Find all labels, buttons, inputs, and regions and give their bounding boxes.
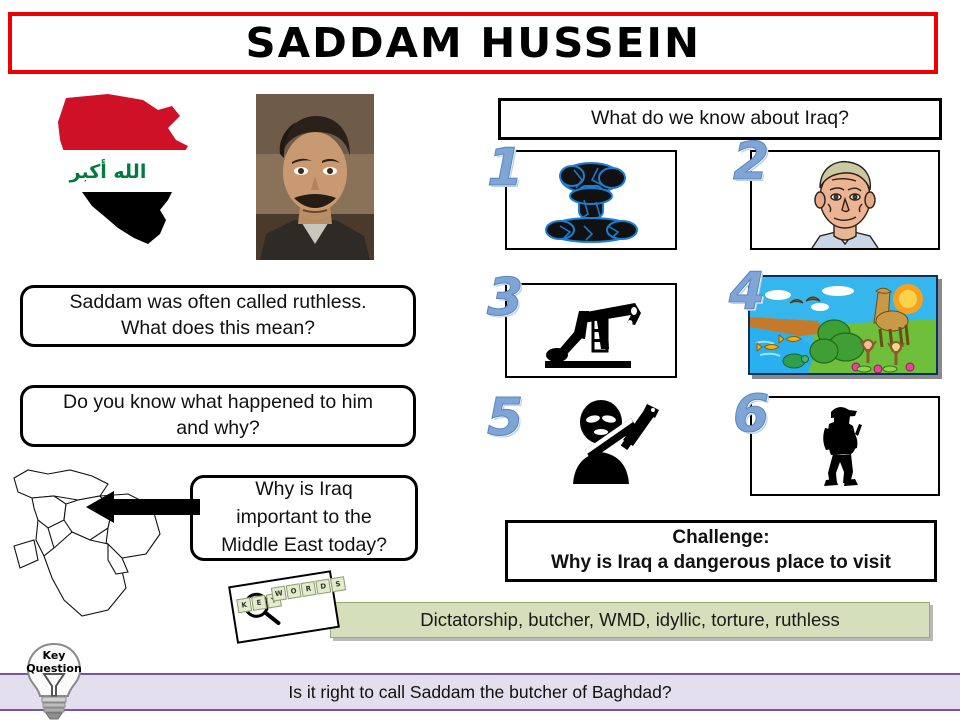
mushroom-cloud-icon [507, 152, 675, 248]
tile-letter: S [330, 576, 346, 592]
challenge-box: Challenge: Why is Iraq a dangerous place… [505, 520, 937, 582]
tile-letter: O [286, 583, 302, 599]
cell-4-idyllic-scene[interactable] [748, 275, 938, 375]
cell-number-2: 2 [733, 136, 769, 188]
arrow-to-iraq [80, 487, 200, 527]
idyllic-paradise-scene [750, 277, 936, 373]
cell-2-george-w-bush[interactable] [750, 150, 940, 250]
cell-number-5: 5 [487, 392, 523, 444]
oil-pumpjack-icon [507, 285, 675, 376]
arabic-takbir-text: الله أكبر [69, 159, 147, 183]
keyword-tiles-words: W O R D S [271, 576, 346, 601]
slide-canvas: SADDAM HUSSEIN الله أكبر [0, 0, 960, 720]
cell-number-1: 1 [487, 142, 523, 194]
keywords-card: K E Y W O R D S [228, 570, 340, 644]
page-title: SADDAM HUSSEIN [245, 19, 700, 67]
question-box-happened[interactable]: Do you know what happened to him and why… [20, 385, 416, 447]
tile-letter: E [251, 595, 267, 611]
cell-number-4: 4 [729, 266, 765, 318]
cell-3-oil-pumpjack[interactable] [505, 283, 677, 378]
key-question-text: Is it right to call Saddam the butcher o… [288, 682, 671, 703]
cell-1-mushroom-cloud[interactable] [505, 150, 677, 250]
cell-number-6: 6 [733, 388, 769, 440]
title-banner: SADDAM HUSSEIN [8, 12, 938, 74]
cell-number-3: 3 [487, 272, 523, 324]
masked-gunman-icon [553, 396, 673, 486]
cell-6-soldier[interactable] [750, 396, 940, 496]
keywords-band: Dictatorship, butcher, WMD, idyllic, tor… [330, 602, 930, 638]
saddam-hussein-portrait [256, 94, 374, 260]
question-box-ruthless[interactable]: Saddam was often called ruthless. What d… [20, 285, 416, 347]
tile-letter: D [315, 579, 331, 595]
key-question-bar: Is it right to call Saddam the butcher o… [0, 673, 960, 711]
tile-letter: W [271, 586, 287, 602]
question-box-importance[interactable]: Why is Iraq important to the Middle East… [190, 475, 418, 561]
middle-east-outline-map [8, 450, 188, 630]
header-what-do-we-know: What do we know about Iraq? [498, 98, 942, 140]
soldier-silhouette-icon [752, 398, 938, 494]
cell-5-masked-gunman[interactable] [553, 396, 673, 486]
tile-letter: K [236, 597, 252, 613]
lightbulb-icon [18, 640, 90, 720]
tile-letter: R [300, 581, 316, 597]
george-w-bush-caricature [752, 152, 938, 248]
iraq-flag-map: الله أكبر [48, 88, 203, 253]
